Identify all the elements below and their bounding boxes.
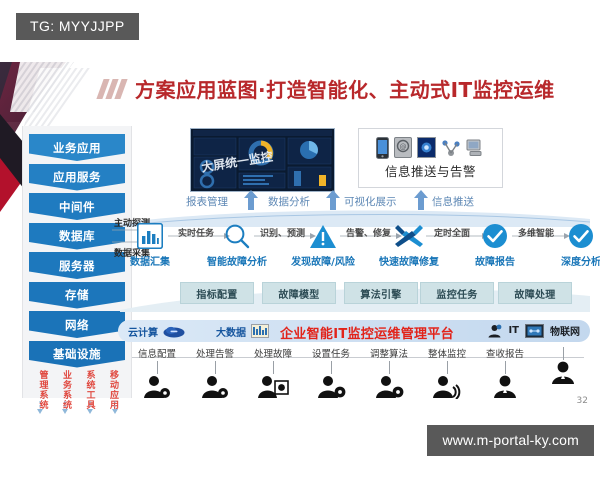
check-circle-icon bbox=[456, 220, 534, 252]
layer-item[interactable]: 存储 bbox=[29, 282, 125, 309]
check-circle-icon bbox=[542, 220, 600, 252]
mail-archive-icon: @ bbox=[394, 137, 412, 158]
person-gear-icon bbox=[128, 375, 186, 399]
output-label: 报表管理 bbox=[186, 194, 228, 209]
svg-text:@: @ bbox=[400, 143, 407, 151]
role-item[interactable]: 整体监控 bbox=[418, 346, 476, 399]
flow-node-fault-report[interactable]: 故障报告 bbox=[456, 220, 534, 268]
platform-tag-iot: 物联网 bbox=[550, 323, 580, 338]
process-flow: 主动探测 数据采集 实时任务 识别、预测 告警、修复 定时全面 多维智能 数据汇… bbox=[112, 218, 590, 274]
platform-title: 企业智能IT监控运维管理平台 bbox=[280, 323, 454, 342]
dashboard-screenshot[interactable]: 大屏统一监控 bbox=[190, 128, 335, 192]
platform-tag-bigdata: 大数据 bbox=[216, 324, 246, 339]
role-task-label: 信息配置 bbox=[128, 346, 186, 360]
person-gear-icon bbox=[186, 375, 244, 399]
role-item[interactable]: 查收报告 bbox=[476, 346, 534, 399]
site-watermark: www.m-portal-ky.com bbox=[427, 425, 594, 456]
flow-node-fault-analysis[interactable]: 智能故障分析 bbox=[198, 220, 276, 268]
flow-node-label: 数据汇集 bbox=[111, 253, 189, 268]
flow-node-data-collect[interactable]: 数据汇集 bbox=[111, 220, 189, 268]
role-task-label: 设置任务 bbox=[302, 346, 360, 360]
flow-node-label: 智能故障分析 bbox=[198, 253, 276, 268]
mobile-phone-icon bbox=[376, 137, 389, 159]
capability-box[interactable]: 算法引擎 bbox=[344, 282, 418, 304]
platform-banner[interactable]: 云计算 大数据 企业智能IT监控运维管理平台 IT bbox=[118, 320, 590, 342]
role-task-label: 处理故障 bbox=[244, 346, 302, 360]
capability-box[interactable]: 故障模型 bbox=[262, 282, 336, 304]
push-alert-panel[interactable]: @ 信息推送与告警 bbox=[358, 128, 503, 188]
it-icon bbox=[487, 324, 502, 338]
flow-node-discover-fault[interactable]: 发现故障/风险 bbox=[284, 220, 362, 268]
role-connector bbox=[273, 361, 274, 374]
flow-node-label: 快速故障修复 bbox=[370, 253, 448, 268]
layer-stack: 业务应用 应用服务 中间件 数据库 服务器 存储 网络 基础设施 管理系统 业务… bbox=[24, 132, 130, 434]
bigdata-icon bbox=[251, 324, 269, 338]
role-connector bbox=[447, 361, 448, 374]
title-accent-bars-icon bbox=[100, 79, 126, 99]
workstation-icon bbox=[466, 139, 485, 157]
role-connector bbox=[215, 361, 216, 374]
flow-node-deep-analysis[interactable]: 深度分析 bbox=[542, 220, 600, 268]
person-gear-icon bbox=[360, 375, 418, 399]
warning-triangle-icon bbox=[284, 220, 362, 252]
flow-node-label: 深度分析 bbox=[542, 253, 600, 268]
platform-left-tags: 云计算 大数据 bbox=[128, 324, 269, 339]
role-connector bbox=[505, 361, 506, 374]
flow-node-label: 发现故障/风险 bbox=[284, 253, 362, 268]
layer-footer-label: 管理系统 bbox=[37, 370, 46, 424]
role-connector bbox=[563, 347, 564, 360]
page-number: 32 bbox=[577, 396, 588, 406]
role-connector bbox=[389, 361, 390, 374]
person-gear-icon bbox=[302, 375, 360, 399]
magnifier-icon bbox=[198, 220, 276, 252]
role-task-label: 处理告警 bbox=[186, 346, 244, 360]
output-label: 可视化展示 bbox=[344, 194, 397, 209]
layer-footer-label: 系统工具 bbox=[84, 370, 93, 424]
platform-tag-cloud: 云计算 bbox=[128, 324, 158, 339]
wrench-screwdriver-icon bbox=[370, 220, 448, 252]
layer-item[interactable]: 中间件 bbox=[29, 193, 125, 220]
role-item[interactable]: 处理告警 bbox=[186, 346, 244, 399]
role-item[interactable]: 处理故障 bbox=[244, 346, 302, 399]
layer-item[interactable]: 基础设施 bbox=[29, 341, 125, 368]
role-item[interactable]: 调整算法 bbox=[360, 346, 418, 399]
push-icon-row: @ bbox=[376, 137, 485, 159]
layer-stack-down-arrows-icon bbox=[24, 400, 130, 414]
person-monitor-icon bbox=[418, 375, 476, 399]
capability-box[interactable]: 监控任务 bbox=[420, 282, 494, 304]
up-arrow-icon bbox=[326, 190, 340, 210]
output-label: 数据分析 bbox=[268, 194, 310, 209]
layer-footer-label: 业务系统 bbox=[61, 370, 70, 424]
layer-item[interactable]: 应用服务 bbox=[29, 164, 125, 191]
flow-node-label: 故障报告 bbox=[456, 253, 534, 268]
platform-right-tags: IT 物联网 bbox=[487, 323, 580, 338]
up-arrow-icon bbox=[414, 190, 428, 210]
platform-tag-it: IT bbox=[508, 325, 519, 336]
role-connector bbox=[331, 361, 332, 374]
capability-box[interactable]: 指标配置 bbox=[180, 282, 254, 304]
bar-chart-icon bbox=[111, 220, 189, 252]
person-icon bbox=[534, 361, 592, 385]
data-cube-icon bbox=[417, 137, 436, 158]
tg-watermark: TG: MYYJJPP bbox=[16, 13, 139, 40]
output-arrow-row: 报表管理 数据分析 可视化展示 信息推送 bbox=[186, 192, 516, 214]
flow-node-fast-repair[interactable]: 快速故障修复 bbox=[370, 220, 448, 268]
person-screen-icon bbox=[244, 375, 302, 399]
capability-box[interactable]: 故障处理 bbox=[498, 282, 572, 304]
role-connector bbox=[157, 361, 158, 374]
network-node-icon bbox=[441, 139, 461, 157]
role-item[interactable]: 信息配置 bbox=[128, 346, 186, 399]
role-task-label: 整体监控 bbox=[418, 346, 476, 360]
role-item[interactable]: 设置任务 bbox=[302, 346, 360, 399]
role-row: 信息配置 处理告警 处理故障 设置任务 bbox=[128, 346, 590, 398]
up-arrow-icon bbox=[244, 190, 258, 210]
capability-band: 指标配置 故障模型 算法引擎 监控任务 故障处理 bbox=[120, 278, 590, 312]
role-task-label: 查收报告 bbox=[476, 346, 534, 360]
output-label: 信息推送 bbox=[432, 194, 474, 209]
push-panel-caption: 信息推送与告警 bbox=[385, 161, 476, 180]
layer-item[interactable]: 业务应用 bbox=[29, 134, 125, 161]
iot-icon bbox=[525, 324, 544, 338]
layer-item[interactable]: 网络 bbox=[29, 311, 125, 338]
title-row: 方案应用蓝图·打造智能化、主动式IT监控运维 bbox=[100, 74, 555, 103]
page-title: 方案应用蓝图·打造智能化、主动式IT监控运维 bbox=[135, 74, 555, 103]
layer-footer-label: 移动应用 bbox=[108, 370, 117, 424]
slide-canvas: TG: MYYJJPP 方案应用蓝图·打造智能化、主动式IT监控运维 业务应用 … bbox=[0, 0, 600, 480]
role-item[interactable] bbox=[534, 346, 592, 385]
cloud-icon bbox=[163, 325, 185, 338]
role-task-label: 调整算法 bbox=[360, 346, 418, 360]
person-icon bbox=[476, 375, 534, 399]
